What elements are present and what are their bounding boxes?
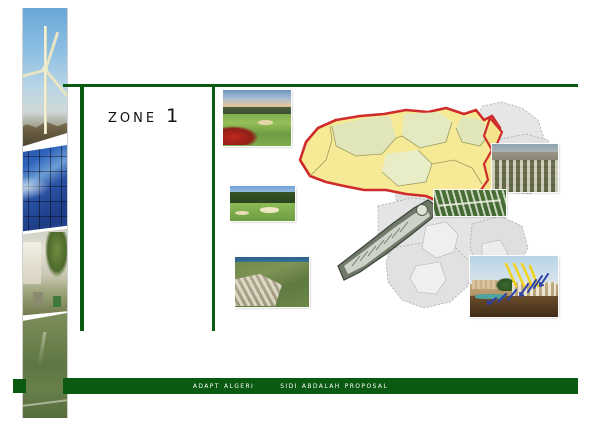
- corner-square-mark: [13, 379, 26, 393]
- sidebar-image-wind-turbine: Wind turbine on hillside against blue sk…: [22, 8, 68, 148]
- solar-panel-glare: [22, 176, 51, 199]
- page-title: Zone 1: [108, 105, 181, 127]
- thumbnail-bioclimatic-section: Bioclimatic section diagram with sun and…: [470, 256, 558, 317]
- presentation-slide: Wind turbine on hillside against blue sk…: [0, 0, 600, 424]
- thumbnail-golf-fairway: Golf fairway with sand bunkers and tree …: [230, 186, 295, 221]
- wind-turbine-hub: [42, 66, 48, 72]
- sidebar-image-village-courtyard: Whitewashed village courtyard with tree: [22, 228, 68, 316]
- footer-project-label: Adapt Algeri: [193, 381, 254, 391]
- left-vertical-rule: [80, 84, 84, 331]
- footer-content: Adapt Algeri Sidi Abdalah proposal: [63, 378, 578, 394]
- thumbnail-golf-sunset: Golf course at sunset with red flowering…: [223, 90, 291, 146]
- wind-turbine-mast: [44, 26, 47, 134]
- sidebar-image-solar-panels: Blue photovoltaic solar panel array: [22, 144, 68, 232]
- center-vertical-rule: [212, 84, 215, 331]
- footer-bar: Adapt Algeri Sidi Abdalah proposal: [63, 378, 578, 394]
- golf-sunset-red-shrubs: [223, 126, 258, 145]
- aerial-city-blocks: [492, 160, 558, 192]
- sidebar-image-green-field: Green agricultural field with track: [22, 312, 68, 418]
- bioclimatic-arrows: [470, 256, 558, 317]
- thumbnail-aerial-city: Aerial view of existing urban district: [492, 144, 558, 192]
- village-wall: [22, 242, 41, 284]
- golf-fairway-bunker: [260, 207, 280, 213]
- thumbnail-aerial-masterplan: Aerial view of green residential masterp…: [434, 190, 506, 216]
- footer-proposal-label: Sidi Abdalah proposal: [280, 381, 388, 391]
- village-bin: [53, 296, 61, 307]
- village-tree-icon: [45, 232, 68, 278]
- village-planter: [33, 292, 43, 305]
- wind-flow-arrow-icon: [488, 274, 548, 304]
- golf-sunset-bunker: [258, 120, 273, 124]
- renewable-energy-photo-strip: Wind turbine on hillside against blue sk…: [22, 8, 68, 418]
- thumbnail-hillside-village: Dense hillside village overlooking the s…: [235, 257, 309, 307]
- header-divider-rule: [63, 84, 578, 87]
